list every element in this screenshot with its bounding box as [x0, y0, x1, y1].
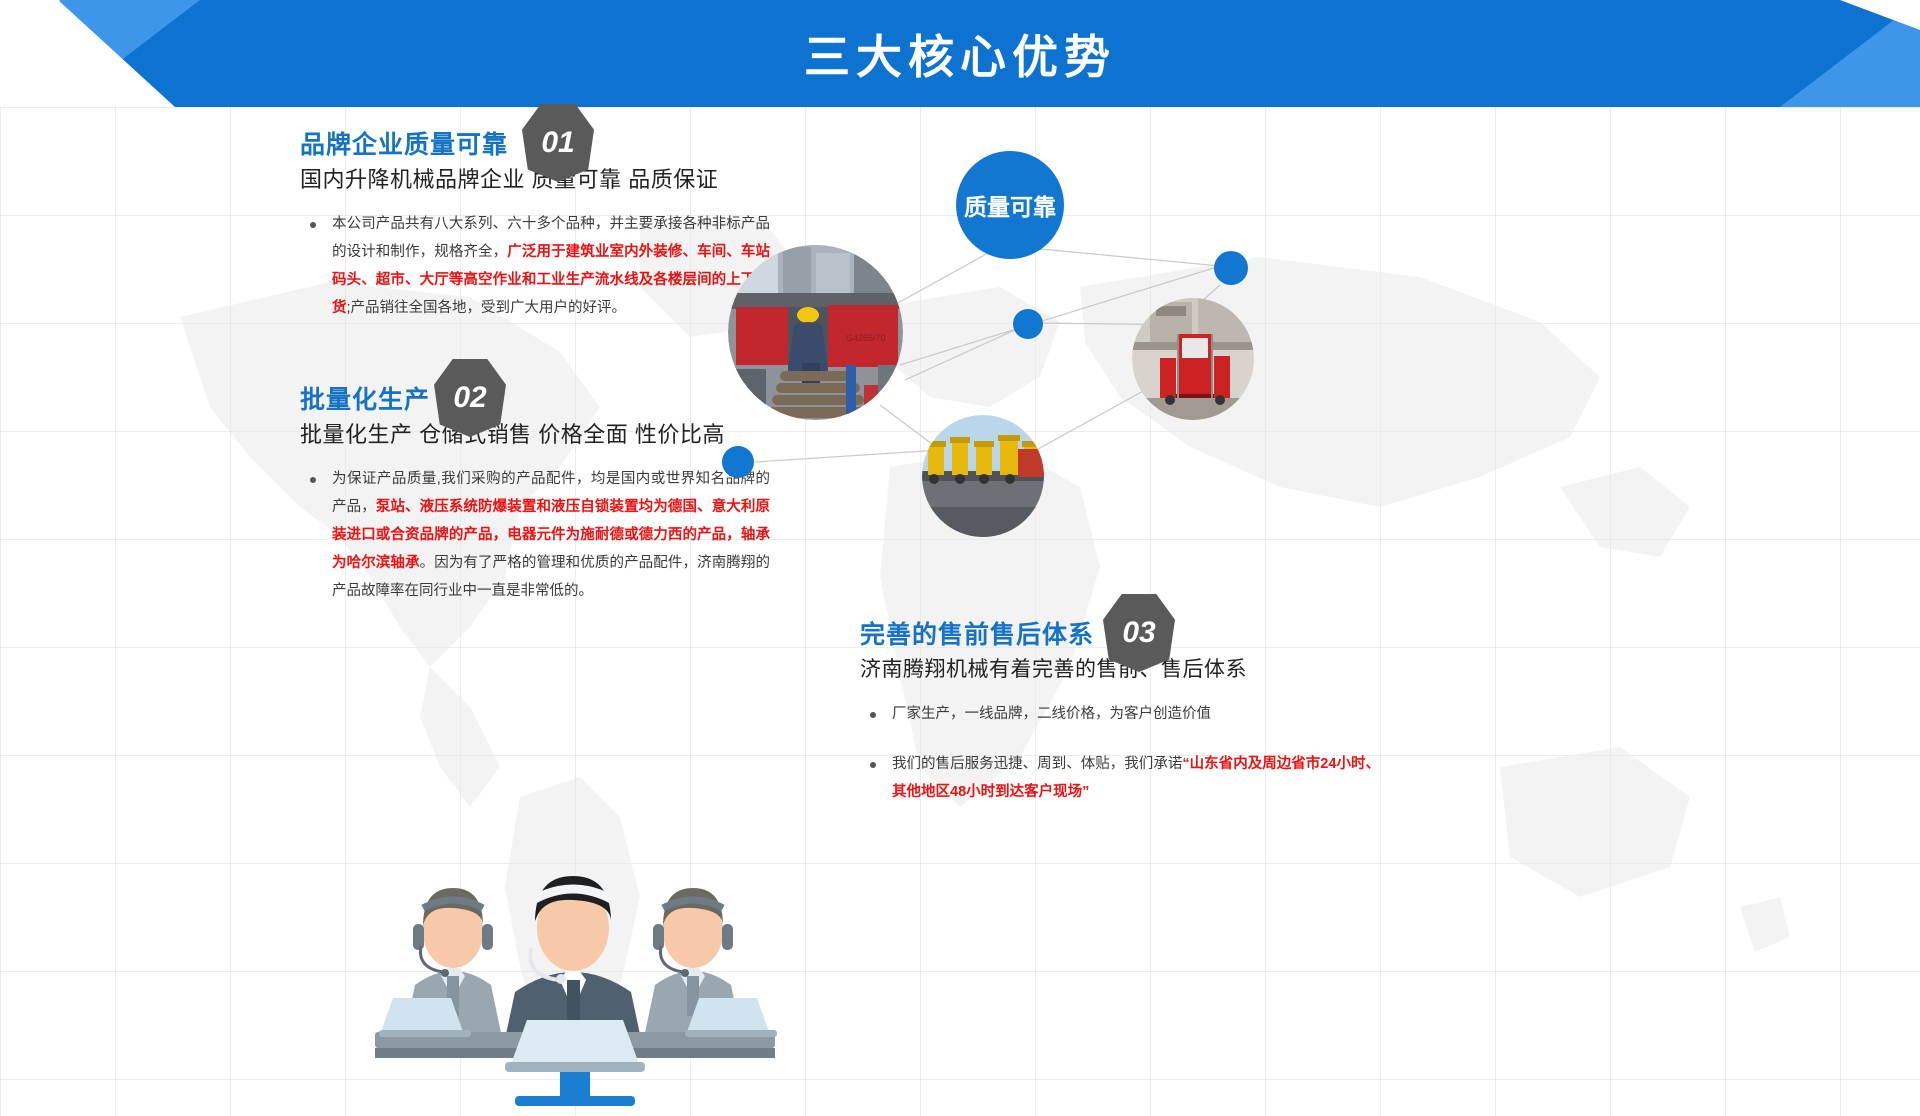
advantage-block-3: 03 完善的售前售后体系 济南腾翔机械有着完善的售前、售后体系 厂家生产，一线品…	[860, 620, 1380, 828]
bullet-text: 我们的售后服务迅捷、周到、体贴，我们承诺	[892, 756, 1182, 772]
node-dot-3	[722, 446, 754, 478]
bullet-item: 我们的售后服务迅捷、周到、体贴，我们承诺“山东省内及周边省市24小时、其他地区4…	[860, 750, 1380, 806]
quality-network-diagram: G4265/70	[700, 120, 1320, 520]
block-1-title: 品牌企业质量可靠	[300, 130, 770, 160]
customer-service-team-illustration	[355, 780, 795, 1110]
page-header-banner: 三大核心优势	[0, 0, 1920, 107]
block-2-title: 批量化生产	[300, 385, 770, 415]
page-title: 三大核心优势	[0, 0, 1920, 107]
block-3-title: 完善的售前售后体系	[860, 620, 1380, 650]
block-3-head: 03 完善的售前售后体系 济南腾翔机械有着完善的售前、售后体系	[860, 620, 1380, 674]
node-dot-1	[1214, 251, 1248, 285]
node-dot-2	[1013, 309, 1043, 339]
svg-text:G4265/70: G4265/70	[846, 333, 886, 343]
red-lift-platform-photo	[1132, 298, 1254, 420]
bullet-text: ;产品销往全国各地，受到广大用户的好评。	[347, 300, 627, 316]
main-node-quality: 质量可靠	[956, 151, 1064, 259]
aerial-work-platforms-photo	[922, 415, 1044, 537]
bullet-text: 厂家生产，一线品牌，二线价格，为客户创造价值	[892, 706, 1211, 722]
bullet-item: 厂家生产，一线品牌，二线价格，为客户创造价值	[860, 700, 1380, 728]
block-3-bullet-list: 厂家生产，一线品牌，二线价格，为客户创造价值我们的售后服务迅捷、周到、体贴，我们…	[860, 700, 1380, 806]
